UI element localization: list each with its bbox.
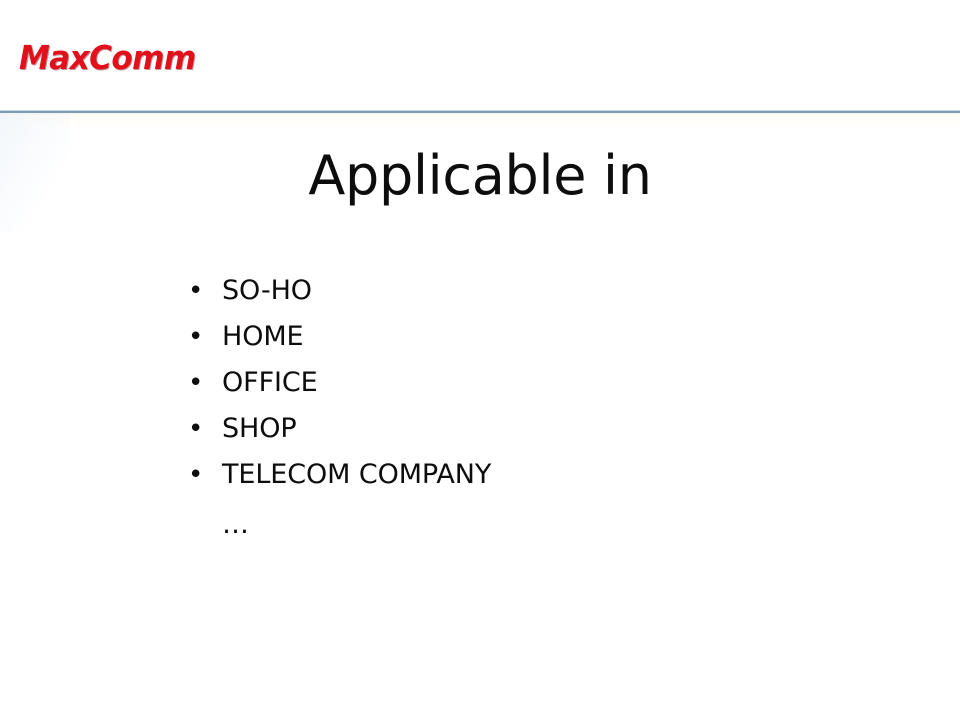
list-item: • OFFICE [188,368,808,414]
list-item-label: HOME [222,322,304,352]
list-item: • SHOP [188,414,808,460]
applicable-in-list: • SO-HO • HOME • OFFICE • SHOP • TELECOM… [188,276,808,556]
list-item-label: TELECOM COMPANY [222,460,491,490]
list-item: • TELECOM COMPANY [188,460,808,506]
header-wash-artifact [0,113,960,129]
list-item: • HOME [188,322,808,368]
bullet-dot-icon: • [188,322,222,352]
list-item: • SO-HO [188,276,808,322]
slide-header: MaxComm [0,0,960,112]
list-continuation-ellipsis: … [222,510,250,540]
page-title: Applicable in [0,148,960,205]
maxcomm-logo: MaxComm [19,41,196,74]
slide-canvas: MaxComm Applicable in • SO-HO • HOME • O… [0,0,960,720]
list-continuation: … [188,510,808,556]
bullet-dot-icon: • [188,460,222,490]
bullet-dot-icon: • [188,414,222,444]
list-item-label: OFFICE [222,368,318,398]
bullet-dot-icon: • [188,368,222,398]
list-item-label: SO-HO [222,276,312,306]
bullet-dot-icon: • [188,276,222,306]
header-divider [0,110,960,114]
list-item-label: SHOP [222,414,297,444]
